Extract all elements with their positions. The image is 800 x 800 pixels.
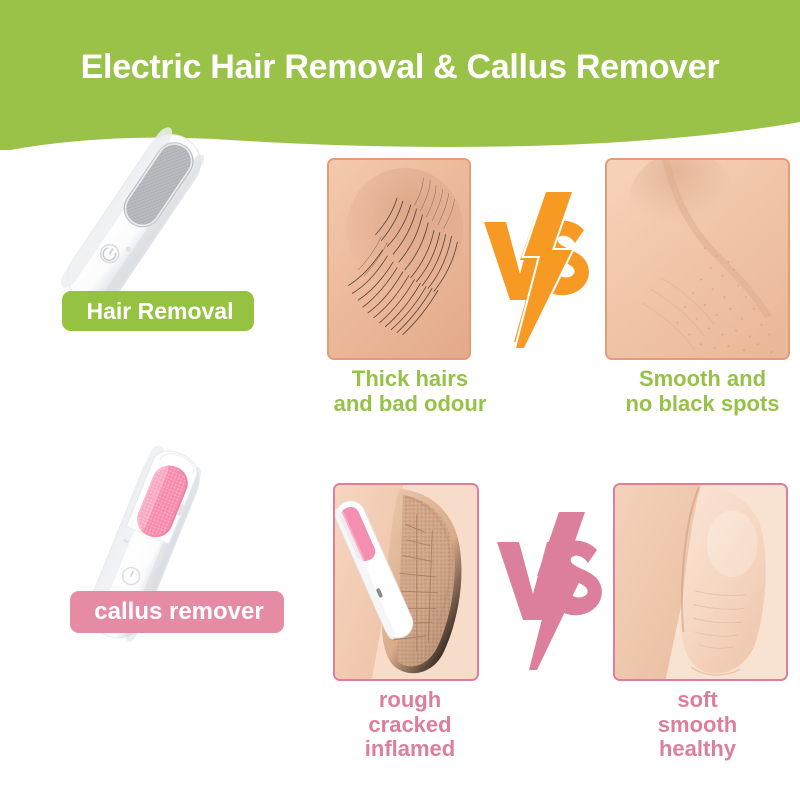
caption-after-hair: Smooth and no black spots [610, 367, 795, 416]
rough-cracked-heel-illustration [335, 485, 477, 679]
vs-mark-callus-remover [495, 512, 610, 672]
badge-callus-remover: callus remover [70, 591, 284, 633]
photo-before-hairy-armpit [327, 158, 471, 360]
soft-healthy-foot-illustration [615, 485, 786, 679]
product-infographic: Electric Hair Removal & Callus Remover [0, 0, 800, 800]
caption-before-hair: Thick hairs and bad odour [320, 367, 500, 416]
caption-after-callus: soft smooth healthy [615, 688, 780, 762]
page-title: Electric Hair Removal & Callus Remover [0, 48, 800, 87]
photo-before-rough-heel [333, 483, 479, 681]
smooth-armpit-illustration [607, 160, 788, 358]
hairy-armpit-illustration [329, 160, 469, 358]
photo-after-smooth-armpit [605, 158, 790, 360]
photo-after-soft-foot [613, 483, 788, 681]
vs-mark-hair-removal [480, 190, 600, 350]
caption-before-callus: rough cracked inflamed [330, 688, 490, 762]
badge-hair-removal: Hair Removal [62, 291, 254, 331]
